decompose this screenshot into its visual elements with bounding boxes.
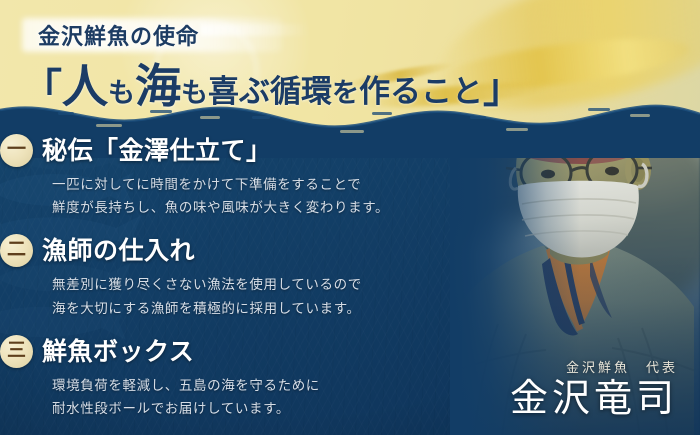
section-number-label: 三 <box>7 341 26 360</box>
headline-part: 「 <box>22 56 62 114</box>
section-body-line: 耐水性段ボールでお届けしています。 <box>52 398 470 421</box>
header-band: 金沢鮮魚の使命 「人も海も喜ぶ循環を作ること」 <box>0 0 700 132</box>
headline-part: 海 <box>135 50 181 116</box>
headline-part: も <box>108 71 135 110</box>
section-body-line: 環境負荷を軽減し、五島の海を守るために <box>52 375 470 398</box>
headline-part: 喜ぶ循環 <box>208 66 332 111</box>
mission-section: 一秘伝「金澤仕立て」一匹に対してに時間をかけて下準備をすることで鮮度が長持ちし、… <box>0 134 470 220</box>
headline-part: も <box>181 71 208 110</box>
section-number-label: 二 <box>7 240 26 259</box>
section-body-line: 鮮度が長持ちし、魚の味や風味が大きく変わります。 <box>52 197 470 220</box>
signature-role: 金沢鮮魚 代表 <box>510 357 678 376</box>
mission-sections: 一秘伝「金澤仕立て」一匹に対してに時間をかけて下準備をすることで鮮度が長持ちし、… <box>0 134 470 435</box>
mission-section: 三鮮魚ボックス環境負荷を軽減し、五島の海を守るために耐水性段ボールでお届けしてい… <box>0 335 470 421</box>
section-title: 秘伝「金澤仕立て」 <box>42 137 272 165</box>
headline-part: ること <box>390 66 483 111</box>
mission-section: 二漁師の仕入れ無差別に獲り尽くさない漁法を使用しているので海を大切にする漁師を積… <box>0 234 470 320</box>
header-kicker: 金沢鮮魚の使命 <box>38 19 199 51</box>
headline-part: を <box>332 71 359 110</box>
poster-root: 金 <box>0 0 700 435</box>
section-number-badge: 二 <box>0 234 33 267</box>
section-body-line: 海を大切にする漁師を積極的に採用しています。 <box>52 298 470 321</box>
section-number-label: 一 <box>7 140 26 159</box>
section-body: 無差別に獲り尽くさない漁法を使用しているので海を大切にする漁師を積極的に採用して… <box>0 274 470 320</box>
section-heading: 三鮮魚ボックス <box>0 335 470 368</box>
section-body-line: 一匹に対してに時間をかけて下準備をすることで <box>52 174 470 197</box>
header-headline: 「人も海も喜ぶ循環を作ること」 <box>22 50 523 116</box>
signature-block: 金沢鮮魚 代表 金沢竜司 <box>510 357 678 419</box>
section-number-badge: 一 <box>0 134 33 167</box>
signature-name: 金沢竜司 <box>510 379 678 419</box>
section-heading: 二漁師の仕入れ <box>0 234 470 267</box>
section-body: 一匹に対してに時間をかけて下準備をすることで鮮度が長持ちし、魚の味や風味が大きく… <box>0 174 470 220</box>
headline-part: 作 <box>359 66 390 111</box>
section-body-line: 無差別に獲り尽くさない漁法を使用しているので <box>52 274 470 297</box>
section-heading: 一秘伝「金澤仕立て」 <box>0 134 470 167</box>
section-title: 漁師の仕入れ <box>42 237 195 265</box>
headline-part: 人 <box>62 50 108 116</box>
headline-part: 」 <box>483 56 523 114</box>
section-body: 環境負荷を軽減し、五島の海を守るために耐水性段ボールでお届けしています。 <box>0 375 470 421</box>
section-number-badge: 三 <box>0 335 33 368</box>
section-title: 鮮魚ボックス <box>42 338 194 366</box>
kicker-brush-tail <box>200 24 310 36</box>
